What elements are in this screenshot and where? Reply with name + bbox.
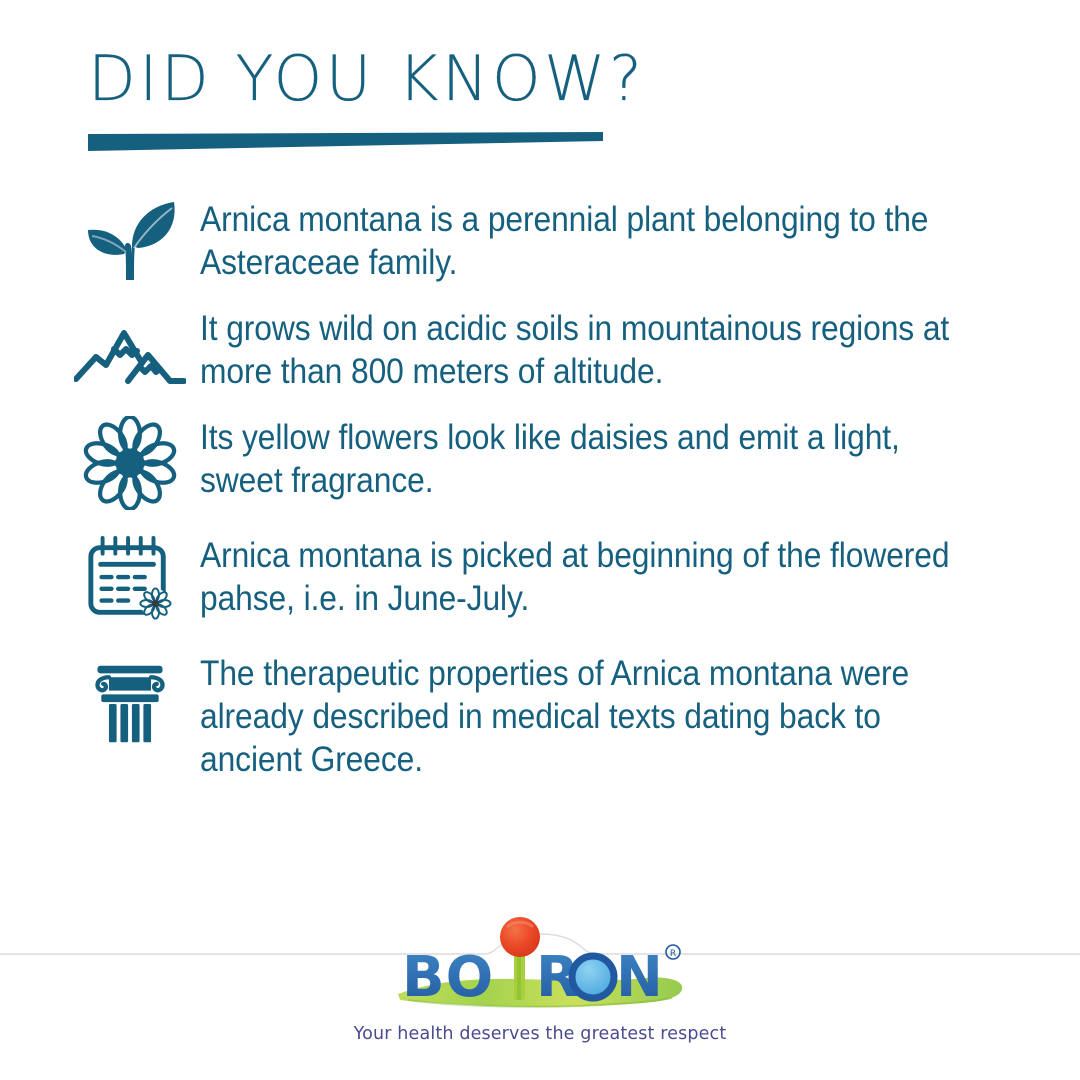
list-item: Arnica montana is picked at beginning of… [60, 532, 1050, 626]
svg-text:BO: BO [402, 945, 494, 1010]
list-item: It grows wild on acidic soils in mountai… [60, 305, 1050, 392]
svg-text:R: R [670, 949, 676, 959]
list-item-text: Its yellow flowers look like daisies and… [200, 414, 961, 501]
ionic-column-icon [60, 650, 200, 748]
boiron-logo: BO R N R [390, 916, 690, 1016]
list-item: Its yellow flowers look like daisies and… [60, 414, 1050, 510]
list-item-text: Arnica montana is picked at beginning of… [200, 532, 961, 619]
list-item: Arnica montana is a perennial plant belo… [60, 196, 1050, 283]
header: DID YOU KNOW? [88, 48, 988, 151]
footer: BO R N R Your health deserves the greate… [0, 910, 1080, 1080]
sprout-icon [60, 196, 200, 282]
brand-tagline: Your health deserves the greatest respec… [354, 1024, 727, 1044]
brand-logo: BO R N R Your health deserves the greate… [0, 916, 1080, 1044]
svg-text:N: N [616, 945, 664, 1010]
fact-list: Arnica montana is a perennial plant belo… [60, 196, 1050, 780]
page-title: DID YOU KNOW? [88, 48, 988, 110]
list-item: The therapeutic properties of Arnica mon… [60, 650, 1050, 780]
list-item-text: Arnica montana is a perennial plant belo… [200, 196, 961, 283]
list-item-text: It grows wild on acidic soils in mountai… [200, 305, 961, 392]
daisy-flower-icon [60, 414, 200, 510]
mountains-icon [60, 305, 200, 391]
infographic-page: DID YOU KNOW? [0, 0, 1080, 1080]
title-underline [88, 132, 603, 151]
list-item-text: The therapeutic properties of Arnica mon… [200, 650, 961, 780]
calendar-flower-icon [60, 532, 200, 626]
